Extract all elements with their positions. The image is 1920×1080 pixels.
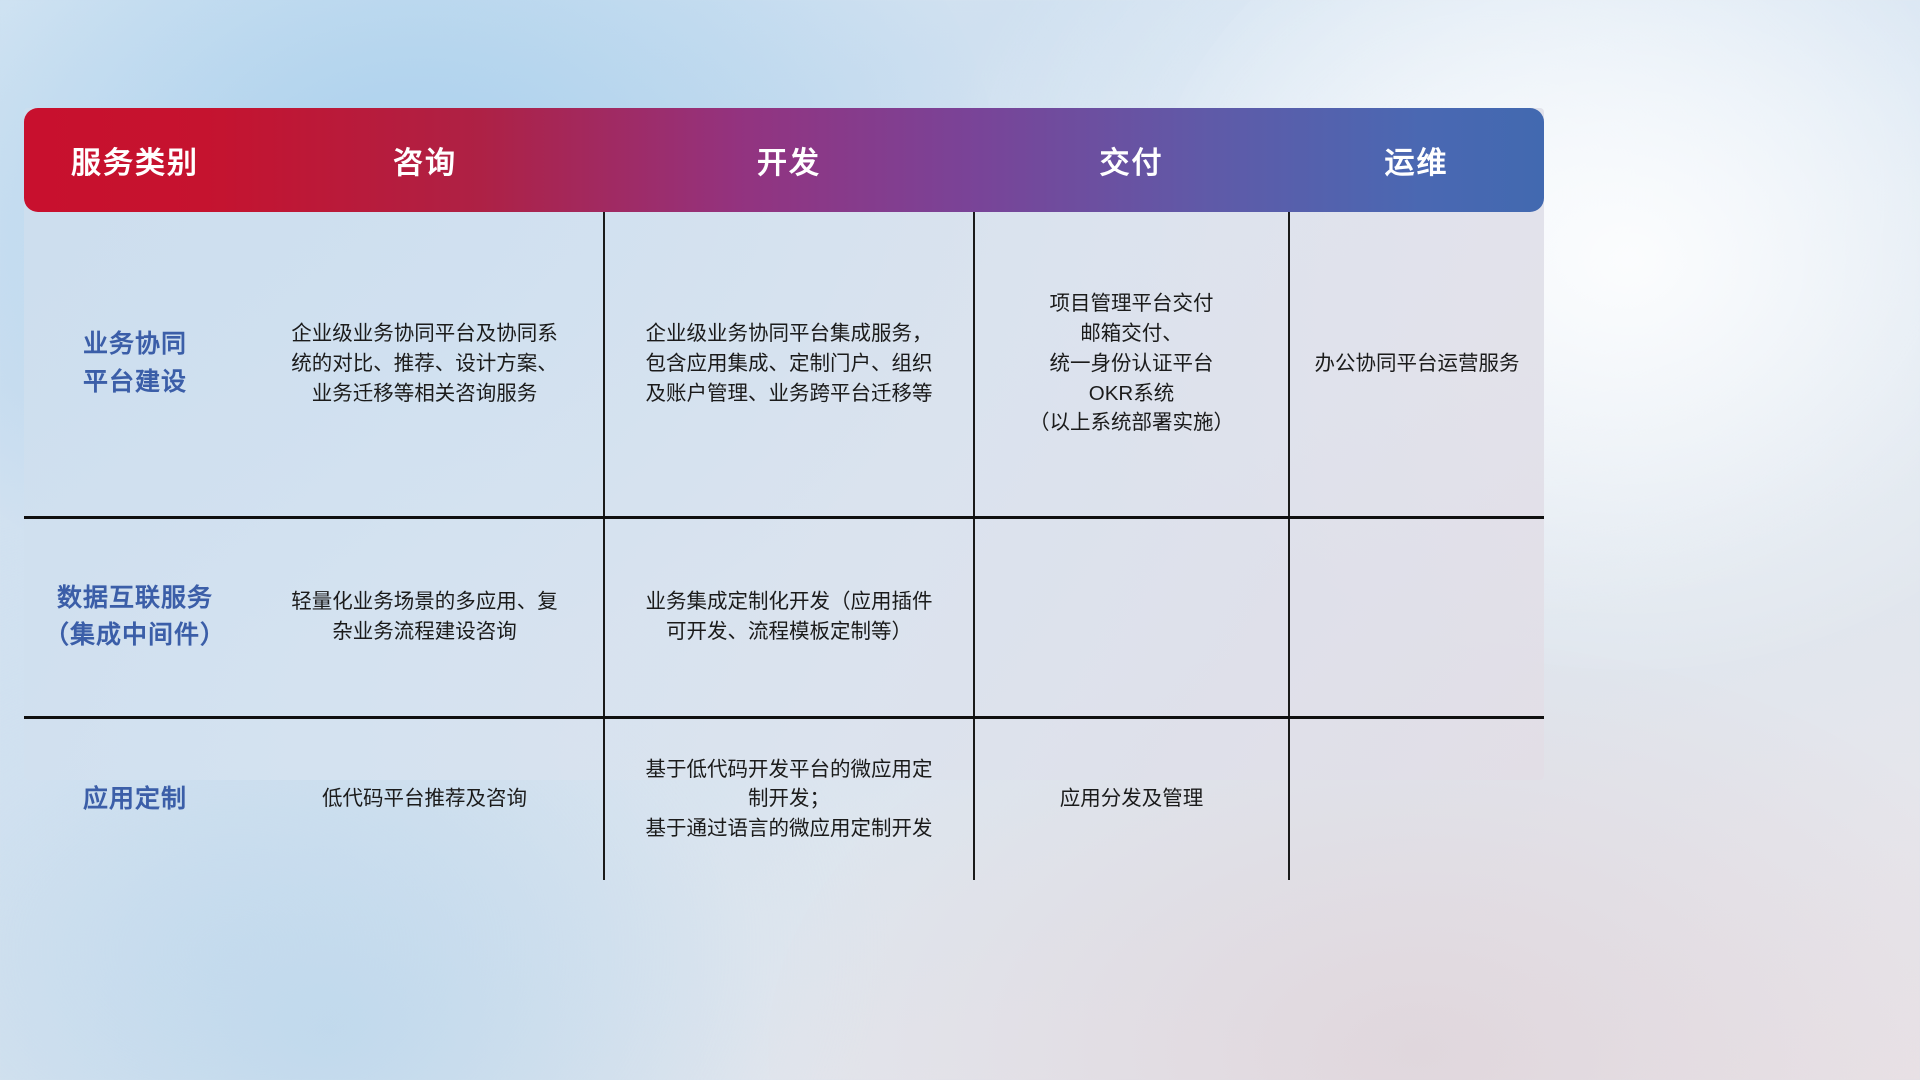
- column-header-label-delivery: 交付: [974, 138, 1289, 182]
- cell-text: 基于低代码开发平台的微应用定 制开发； 基于通过语言的微应用定制开发: [619, 755, 959, 844]
- column-header-label-category: 服务类别: [24, 138, 246, 182]
- cell-text: 应用定制: [38, 781, 232, 819]
- cell-text: [1304, 617, 1530, 618]
- cell-text: 轻量化业务场景的多应用、复 杂业务流程建设咨询: [260, 587, 589, 646]
- header-row: 服务类别 咨询 开发 交付 运维: [24, 108, 1544, 212]
- cell-development-row2: 业务集成定制化开发（应用插件 可开发、流程模板定制等）: [604, 517, 974, 717]
- cell-delivery-row3: 应用分发及管理: [974, 717, 1289, 880]
- cell-operations-row1: 办公协同平台运营服务: [1289, 212, 1544, 517]
- cell-text: 数据互联服务 （集成中间件）: [38, 580, 232, 655]
- cell-consulting-row3: 低代码平台推荐及咨询: [246, 717, 604, 880]
- table-header: 服务类别 咨询 开发 交付 运维: [24, 108, 1544, 212]
- cell-text: [989, 617, 1274, 618]
- column-header-operations: 运维: [1289, 108, 1544, 212]
- table-body: 业务协同 平台建设 企业级业务协同平台及协同系 统的对比、推荐、设计方案、 业务…: [24, 212, 1544, 880]
- cell-text: 项目管理平台交付 邮箱交付、 统一身份认证平台 OKR系统 （以上系统部署实施）: [989, 289, 1274, 438]
- cell-operations-row2: [1289, 517, 1544, 717]
- column-header-development: 开发: [604, 108, 974, 212]
- cell-category-row1: 业务协同 平台建设: [24, 212, 246, 517]
- cell-development-row3: 基于低代码开发平台的微应用定 制开发； 基于通过语言的微应用定制开发: [604, 717, 974, 880]
- cell-text: 低代码平台推荐及咨询: [260, 784, 589, 814]
- slide-canvas: 服务类别 咨询 开发 交付 运维: [0, 0, 1920, 1080]
- cell-delivery-row2: [974, 517, 1289, 717]
- cell-consulting-row2: 轻量化业务场景的多应用、复 杂业务流程建设咨询: [246, 517, 604, 717]
- column-header-label-operations: 运维: [1289, 138, 1544, 182]
- cell-text: 业务协同 平台建设: [38, 326, 232, 401]
- cell-text: 业务集成定制化开发（应用插件 可开发、流程模板定制等）: [619, 587, 959, 646]
- cell-text: 办公协同平台运营服务: [1304, 349, 1530, 379]
- cell-category-row3: 应用定制: [24, 717, 246, 880]
- cell-operations-row3: [1289, 717, 1544, 880]
- table-row: 数据互联服务 （集成中间件） 轻量化业务场景的多应用、复 杂业务流程建设咨询 业…: [24, 517, 1544, 717]
- column-header-category: 服务类别: [24, 108, 246, 212]
- service-matrix: 服务类别 咨询 开发 交付 运维: [24, 108, 1544, 880]
- cell-text: 企业级业务协同平台集成服务， 包含应用集成、定制门户、组织 及账户管理、业务跨平…: [619, 319, 959, 408]
- column-header-delivery: 交付: [974, 108, 1289, 212]
- cell-consulting-row1: 企业级业务协同平台及协同系 统的对比、推荐、设计方案、 业务迁移等相关咨询服务: [246, 212, 604, 517]
- column-header-label-development: 开发: [604, 138, 974, 182]
- table-row: 应用定制 低代码平台推荐及咨询 基于低代码开发平台的微应用定 制开发； 基于通过…: [24, 717, 1544, 880]
- cell-text: 应用分发及管理: [989, 784, 1274, 814]
- cell-development-row1: 企业级业务协同平台集成服务， 包含应用集成、定制门户、组织 及账户管理、业务跨平…: [604, 212, 974, 517]
- cell-text: 企业级业务协同平台及协同系 统的对比、推荐、设计方案、 业务迁移等相关咨询服务: [260, 319, 589, 408]
- service-matrix-table: 服务类别 咨询 开发 交付 运维: [24, 108, 1544, 780]
- column-header-label-consulting: 咨询: [246, 138, 604, 182]
- cell-delivery-row1: 项目管理平台交付 邮箱交付、 统一身份认证平台 OKR系统 （以上系统部署实施）: [974, 212, 1289, 517]
- table-row: 业务协同 平台建设 企业级业务协同平台及协同系 统的对比、推荐、设计方案、 业务…: [24, 212, 1544, 517]
- column-header-consulting: 咨询: [246, 108, 604, 212]
- cell-text: [1304, 799, 1530, 800]
- cell-category-row2: 数据互联服务 （集成中间件）: [24, 517, 246, 717]
